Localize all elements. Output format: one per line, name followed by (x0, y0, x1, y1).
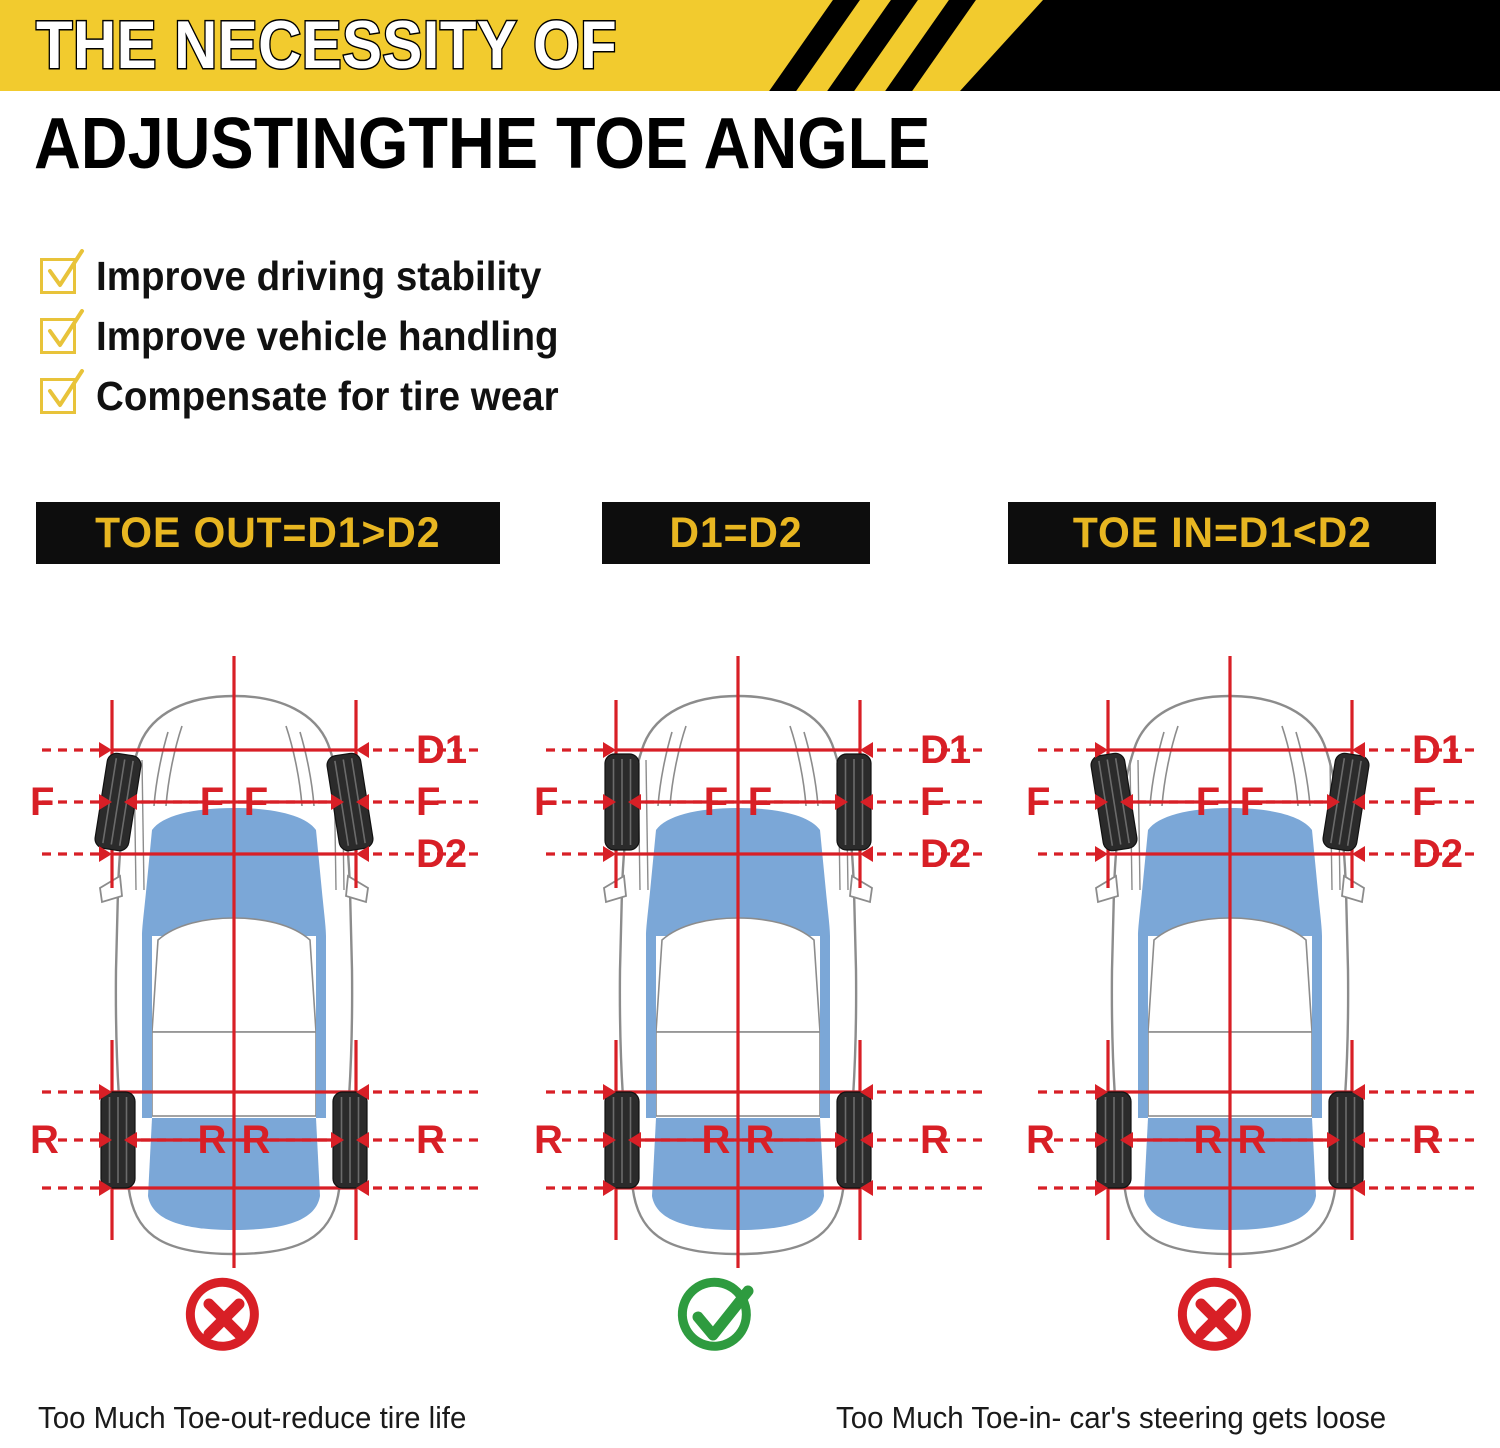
measure-label: F (1196, 780, 1220, 824)
measure-label: R (1412, 1118, 1441, 1162)
dashed-arrow-icon (356, 1084, 478, 1100)
checkbox-icon (40, 318, 76, 354)
measure-label: R (1026, 1118, 1055, 1162)
benefit-label: Improve driving stability (96, 253, 541, 300)
car-diagram-aligned: D1FD2FRRFFRR (520, 640, 1008, 1270)
verdict-cross-icon (1172, 1275, 1258, 1361)
benefit-label: Compensate for tire wear (96, 373, 559, 420)
measure-label: R (534, 1118, 563, 1162)
measure-label: F (200, 780, 224, 824)
list-item: Improve vehicle handling (40, 308, 588, 364)
section-label-toe-in: TOE IN=D1<D2 (1008, 502, 1436, 564)
banner-title: THE NECESSITY OF (36, 6, 617, 84)
measure-label: D2 (416, 832, 467, 876)
list-item: Compensate for tire wear (40, 368, 588, 424)
car-diagram-svg: D1FD2FRRFFRR (1012, 640, 1500, 1270)
dashed-arrow-icon (546, 846, 616, 862)
checkmark-icon (45, 309, 85, 353)
checkmark-icon (45, 369, 85, 413)
checkbox-icon (40, 378, 76, 414)
verdict-svg (1172, 1275, 1258, 1361)
measure-label: D2 (920, 832, 971, 876)
infographic-root: THE NECESSITY OF ADJUSTINGTHE TOE ANGLE … (0, 0, 1500, 1448)
benefits-list: Improve driving stability Improve vehicl… (40, 248, 588, 428)
measure-label: R (198, 1118, 227, 1162)
dashed-arrow-icon (1038, 1180, 1108, 1196)
measure-label: F (1412, 780, 1436, 824)
verdict-svg (672, 1275, 758, 1361)
dashed-arrow-icon (1352, 1084, 1474, 1100)
caption-toe-out: Too Much Toe-out-reduce tire life (38, 1400, 466, 1436)
measure-label: R (920, 1118, 949, 1162)
measure-label: F (704, 780, 728, 824)
measure-label: R (416, 1118, 445, 1162)
measure-label: R (1238, 1118, 1267, 1162)
dashed-arrow-icon (546, 1084, 616, 1100)
benefit-label: Improve vehicle handling (96, 313, 559, 360)
measure-label: F (534, 780, 558, 824)
dashed-arrow-icon (546, 1180, 616, 1196)
plaque-text: D1=D2 (669, 509, 802, 558)
checkbox-icon (40, 258, 76, 294)
dashed-arrow-icon (860, 1180, 982, 1196)
measure-label: D2 (1412, 832, 1463, 876)
section-label-aligned: D1=D2 (602, 502, 870, 564)
verdict-cross-icon (180, 1275, 266, 1361)
car-diagram-toe-out: D1FD2FRRFFRR (16, 640, 504, 1270)
dashed-arrow-icon (546, 742, 616, 758)
dashed-arrow-icon (1038, 742, 1108, 758)
page-title: ADJUSTINGTHE TOE ANGLE (34, 103, 930, 185)
verdict-check-icon (672, 1275, 758, 1361)
measure-label: F (416, 780, 440, 824)
dashed-arrow-icon (42, 1084, 112, 1100)
measure-label: F (244, 780, 268, 824)
measure-label: R (702, 1118, 731, 1162)
dashed-arrow-icon (42, 742, 112, 758)
car-diagram-svg: D1FD2FRRFFRR (520, 640, 1008, 1270)
measure-label: F (1026, 780, 1050, 824)
measure-label: R (30, 1118, 59, 1162)
checkmark-icon (45, 249, 85, 293)
header-banner: THE NECESSITY OF (0, 0, 1500, 91)
dashed-arrow-icon (42, 846, 112, 862)
measure-label: R (242, 1118, 271, 1162)
dashed-arrow-icon (1352, 1180, 1474, 1196)
list-item: Improve driving stability (40, 248, 588, 304)
dashed-arrow-icon (42, 1180, 112, 1196)
dashed-arrow-icon (1038, 846, 1108, 862)
measure-label: R (1194, 1118, 1223, 1162)
measure-label: D1 (1412, 728, 1463, 772)
dashed-arrow-icon (1038, 1084, 1108, 1100)
plaque-text: TOE IN=D1<D2 (1072, 509, 1371, 558)
car-diagram-toe-in: D1FD2FRRFFRR (1012, 640, 1500, 1270)
measure-label: F (920, 780, 944, 824)
dashed-arrow-icon (860, 1084, 982, 1100)
measure-label: F (1240, 780, 1264, 824)
caption-toe-in: Too Much Toe-in- car's steering gets loo… (836, 1400, 1386, 1436)
measure-label: R (746, 1118, 775, 1162)
verdict-svg (180, 1275, 266, 1361)
section-label-toe-out: TOE OUT=D1>D2 (36, 502, 500, 564)
measure-label: F (30, 780, 54, 824)
car-diagram-svg: D1FD2FRRFFRR (16, 640, 504, 1270)
plaque-text: TOE OUT=D1>D2 (95, 509, 440, 558)
measure-label: D1 (920, 728, 971, 772)
dashed-arrow-icon (356, 1180, 478, 1196)
measure-label: F (748, 780, 772, 824)
measure-label: D1 (416, 728, 467, 772)
